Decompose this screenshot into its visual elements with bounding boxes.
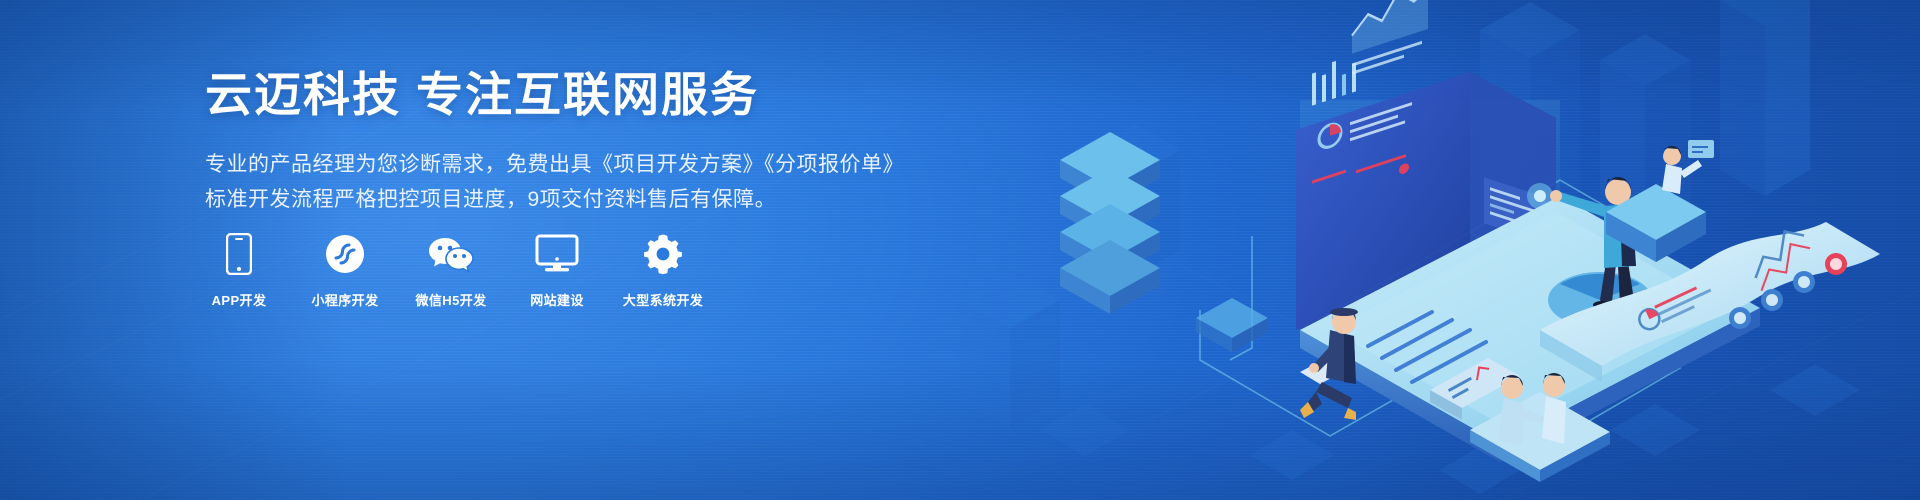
mobile-phone-icon: [226, 232, 252, 276]
service-item-app[interactable]: APP开发: [205, 232, 273, 309]
gear-icon: [642, 232, 684, 276]
page-title: 云迈科技 专注互联网服务: [205, 68, 925, 122]
service-label: 微信H5开发: [415, 290, 486, 309]
service-label: 大型系统开发: [623, 290, 703, 309]
service-item-mini-program[interactable]: 小程序开发: [311, 232, 379, 309]
banner-text-block: 云迈科技 专注互联网服务 专业的产品经理为您诊断需求，免费出具《项目开发方案》《…: [205, 68, 925, 217]
service-item-wechat-h5[interactable]: 微信H5开发: [417, 232, 485, 309]
service-label: 网站建设: [530, 290, 584, 309]
promo-banner: 云迈科技 专注互联网服务 专业的产品经理为您诊断需求，免费出具《项目开发方案》《…: [0, 0, 1920, 500]
wechat-icon: [428, 232, 474, 276]
isometric-illustration: [1000, 0, 1920, 500]
subtitle-line-2: 标准开发流程严格把控项目进度，9项交付资料售后有保障。: [205, 183, 925, 218]
server-stack: [1060, 132, 1160, 314]
mini-program-icon: [325, 232, 365, 276]
service-item-large-system[interactable]: 大型系统开发: [629, 232, 697, 309]
service-label: 小程序开发: [311, 290, 378, 309]
floating-widget-left: [1196, 298, 1268, 352]
service-icon-row: APP开发 小程序开发: [205, 232, 697, 309]
service-item-website[interactable]: 网站建设: [523, 232, 591, 309]
service-label: APP开发: [212, 290, 267, 309]
subtitle-line-1: 专业的产品经理为您诊断需求，免费出具《项目开发方案》《分项报价单》: [205, 148, 925, 183]
monitor-icon: [535, 232, 579, 276]
